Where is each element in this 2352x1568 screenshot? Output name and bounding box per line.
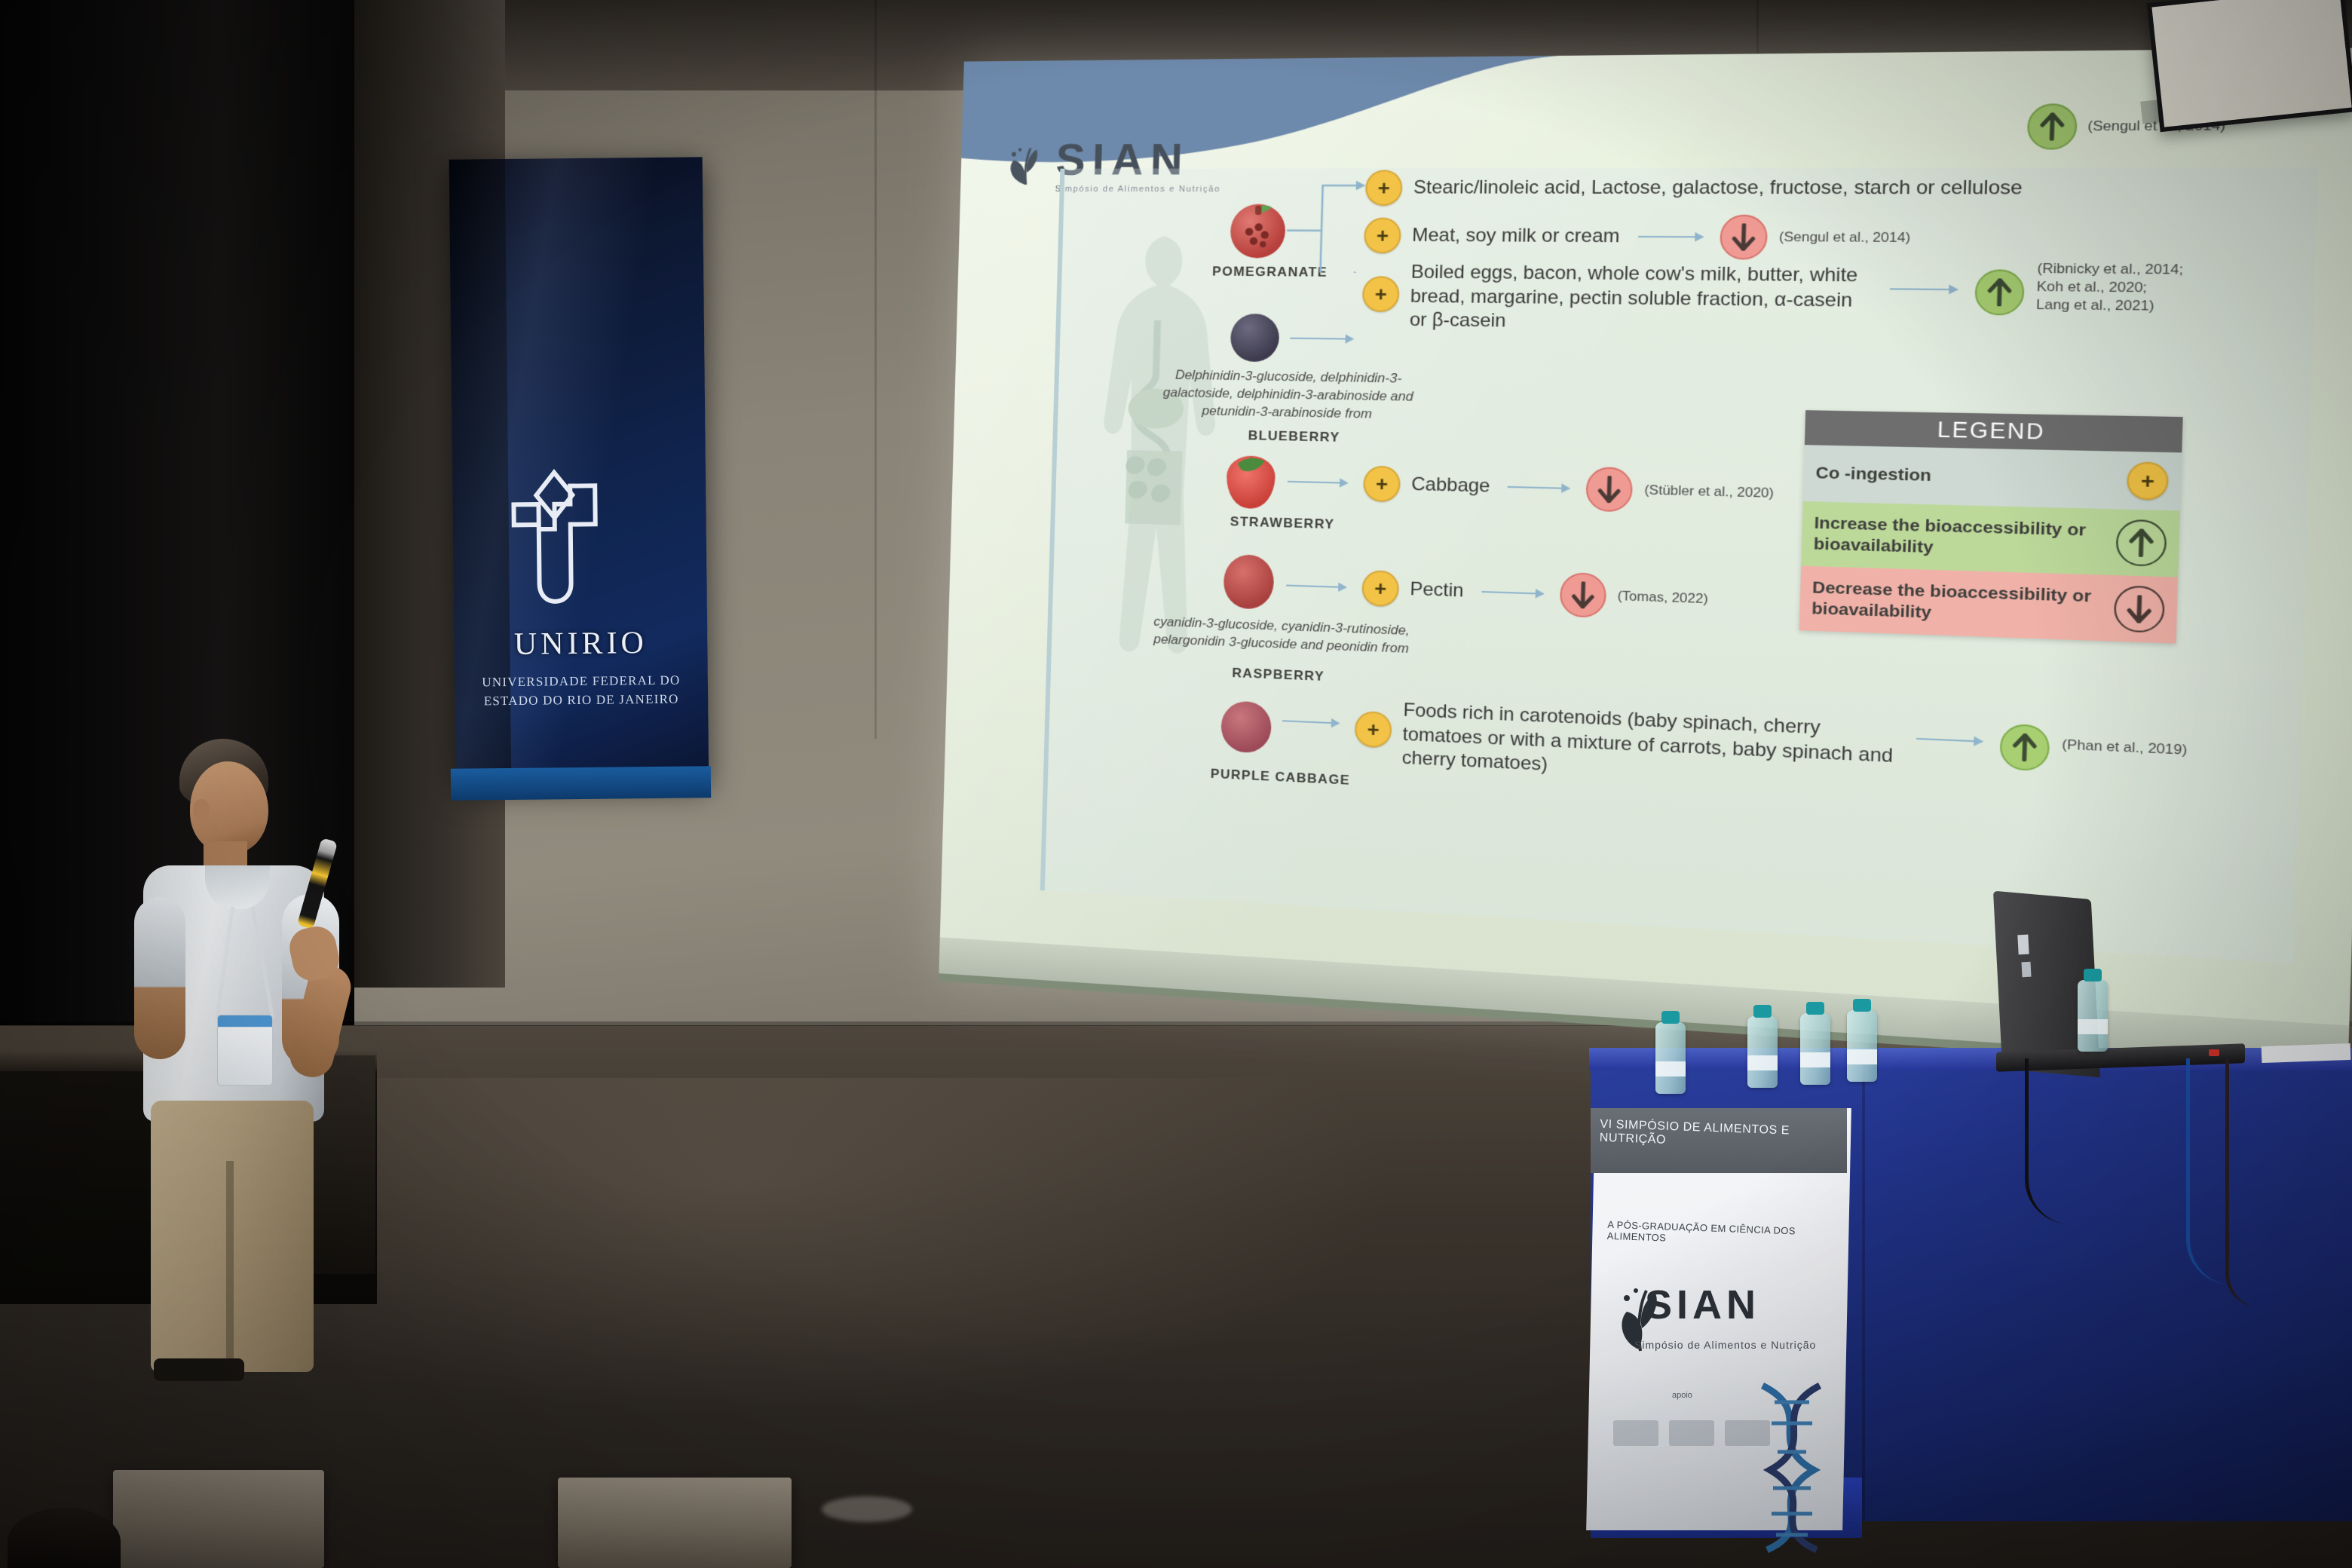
legend-label: Increase the bioaccessibility or bioavai…: [1813, 513, 2108, 564]
water-bottle: [2078, 980, 2108, 1052]
flow-connector: [1286, 585, 1346, 589]
flow-connector: [1890, 288, 1958, 290]
legend-row-decrease: Decrease the bioaccessibility or bioavai…: [1799, 566, 2179, 644]
conference-badge: [217, 1015, 273, 1086]
dna-helix-icon: [1741, 1380, 1854, 1553]
legend-row-increase: Increase the bioaccessibility or bioavai…: [1801, 501, 2180, 577]
laptop-sticker: [2017, 935, 2029, 955]
bottle-cap: [2084, 969, 2102, 982]
trouser-seam: [226, 1161, 234, 1380]
co-ingestion-plus-icon: +: [1355, 711, 1392, 749]
unirio-subtitle: UNIVERSIDADE FEDERAL DO ESTADO DO RIO DE…: [455, 671, 708, 711]
table-banner-logo-word: SIAN: [1645, 1282, 1760, 1328]
laptop-sticker: [2021, 962, 2031, 978]
decrease-arrow-icon: [1720, 215, 1768, 260]
decrease-arrow-icon: [1559, 572, 1606, 618]
increase-arrow-icon: [2027, 103, 2078, 149]
speaker-shoe: [154, 1358, 244, 1381]
decrease-arrow-icon: [2114, 585, 2166, 633]
row-pomegranate-stearic: + Stearic/linoleic acid, Lactose, galact…: [1365, 170, 2023, 207]
sian-leaf-icon: [1003, 142, 1051, 189]
citation-text: (Phan et al., 2019): [2062, 736, 2188, 759]
speaker-left-arm: [134, 897, 185, 1059]
human-body-icon: [1073, 228, 1233, 761]
floor-mark: [822, 1496, 912, 1522]
fruit-label-blueberry: BLUEBERRY: [1248, 428, 1340, 446]
citation-text: (Tomas, 2022): [1617, 587, 1708, 608]
flow-connector: [1638, 236, 1703, 238]
increase-arrow-icon: [1999, 724, 2050, 772]
co-ingestion-text: Cabbage: [1411, 473, 1490, 499]
pomegranate-branch-connector: [1285, 179, 1367, 273]
flow-connector: [1288, 481, 1348, 484]
slide-canvas: SIAN Simpósio de Alimentos e Nutrição: [939, 47, 2352, 1074]
co-ingestion-plus-icon: +: [1361, 570, 1399, 607]
row-pomegranate-meat: + Meat, soy milk or cream (Sengul et al.…: [1364, 213, 1911, 260]
water-bottle: [1800, 1013, 1830, 1085]
water-bottle: [1655, 1022, 1686, 1094]
flow-connector: [1508, 486, 1570, 489]
slide-diagram: POMEGRANATE + Stearic/linoleic acid, Lac…: [1040, 167, 2318, 963]
fruit-label-purple-cabbage: PURPLE CABBAGE: [1211, 766, 1351, 788]
laptop-power-led: [2209, 1049, 2219, 1056]
co-ingestion-text: Foods rich in carotenoids (baby spinach,…: [1401, 699, 1903, 795]
floor-reflection: [286, 1078, 1417, 1425]
bottle-label: [2078, 1019, 2108, 1034]
unirio-logo-icon: [498, 464, 612, 616]
citation-text: (Ribnicky et al., 2014; Koh et al., 2020…: [2036, 260, 2184, 316]
fruit-description-blueberry: Delphinidin-3-glucoside, delphinidin-3-g…: [1148, 366, 1429, 424]
fruit-purple-cabbage-icon: [1220, 700, 1272, 753]
row-strawberry-cabbage: + Cabbage (Stübler et al., 2020): [1287, 460, 1775, 516]
water-bottle: [1747, 1016, 1778, 1088]
citation-text: (Sengul et al., 2014): [1779, 228, 1911, 247]
increase-arrow-icon: [2115, 519, 2167, 567]
projected-slide: SIAN Simpósio de Alimentos e Nutrição: [939, 47, 2352, 1074]
bottle-cap: [1661, 1011, 1680, 1024]
increase-arrow-icon: [1974, 269, 2025, 315]
legend-label: Co -ingestion: [1815, 463, 1931, 487]
unirio-banner: UNIRIO UNIVERSIDADE FEDERAL DO ESTADO DO…: [449, 157, 709, 785]
planter-box-left: [113, 1470, 324, 1568]
fruit-raspberry-icon: [1223, 554, 1274, 610]
bottle-cap: [1806, 1002, 1824, 1015]
audience-member: [8, 1508, 121, 1568]
row-raspberry-pectin: + Pectin (Tomas, 2022): [1285, 564, 1708, 622]
legend-box: LEGEND Co -ingestion + Increase the bioa…: [1799, 410, 2183, 644]
bottle-label: [1747, 1055, 1778, 1070]
fruit-pomegranate-icon: [1230, 204, 1286, 259]
table-banner-logo-tagline: Simpósio de Alimentos e Nutrição: [1634, 1339, 1816, 1351]
co-ingestion-text: Meat, soy milk or cream: [1412, 224, 1620, 249]
fruit-strawberry-icon: [1226, 455, 1276, 509]
legend-row-co-ingestion: Co -ingestion +: [1803, 445, 2182, 510]
flow-connector: [1282, 720, 1339, 724]
fruit-label-raspberry: RASPBERRY: [1232, 666, 1325, 684]
co-ingestion-plus-icon: +: [1362, 276, 1400, 312]
flow-connector: [1916, 738, 1983, 743]
projection-screen: SIAN Simpósio de Alimentos e Nutrição: [951, 62, 2233, 982]
legend-label: Decrease the bioaccessibility or bioavai…: [1811, 577, 2106, 629]
water-bottle: [1847, 1010, 1877, 1082]
unirio-name: UNIRIO: [454, 624, 707, 663]
wall-seam: [874, 0, 877, 739]
fruit-blueberry-icon: [1230, 314, 1280, 362]
sponsor-logo: [1613, 1420, 1658, 1446]
bottle-label: [1847, 1049, 1877, 1064]
sponsor-logo: [1669, 1420, 1714, 1446]
banner-base: [451, 766, 711, 801]
co-ingestion-plus-icon: +: [1364, 218, 1401, 254]
co-ingestion-plus-icon: +: [2127, 461, 2169, 501]
decrease-arrow-icon: [1586, 467, 1634, 513]
speaker-ear: [193, 799, 210, 820]
flow-connector: [1481, 591, 1543, 595]
bottle-cap: [1753, 1005, 1772, 1018]
paper-stack: [2262, 1043, 2351, 1063]
co-ingestion-text: Stearic/linoleic acid, Lactose, galactos…: [1413, 176, 2023, 201]
power-cable: [2025, 1058, 2089, 1224]
video-cable: [2225, 1058, 2259, 1307]
co-ingestion-text: Boiled eggs, bacon, whole cow's milk, bu…: [1409, 261, 1876, 338]
bottle-cap: [1853, 999, 1871, 1012]
bottle-label: [1655, 1061, 1686, 1076]
row-pomegranate-eggs: + Boiled eggs, bacon, whole cow's milk, …: [1361, 260, 2183, 342]
planter-box-right: [558, 1478, 792, 1568]
support-label: apoio: [1672, 1391, 1692, 1400]
speaker-person: [121, 739, 377, 1402]
co-ingestion-text: Pectin: [1410, 577, 1464, 603]
bottle-label: [1800, 1052, 1830, 1067]
presentation-photo: UNIRIO UNIVERSIDADE FEDERAL DO ESTADO DO…: [0, 0, 2352, 1568]
citation-text: (Stübler et al., 2020): [1644, 482, 1774, 503]
unirio-line1: UNIVERSIDADE FEDERAL DO: [482, 673, 680, 690]
co-ingestion-plus-icon: +: [1363, 465, 1401, 502]
second-display: [2147, 0, 2352, 132]
tablecloth-fold: [1862, 1054, 1865, 1521]
row-purple-cabbage-carotenoids: + Foods rich in carotenoids (baby spinac…: [1281, 694, 2188, 807]
co-ingestion-plus-icon: +: [1365, 170, 1403, 206]
unirio-line2: ESTADO DO RIO DE JANEIRO: [484, 691, 679, 708]
flow-connector: [1290, 338, 1353, 340]
fruit-label-strawberry: STRAWBERRY: [1230, 514, 1334, 532]
